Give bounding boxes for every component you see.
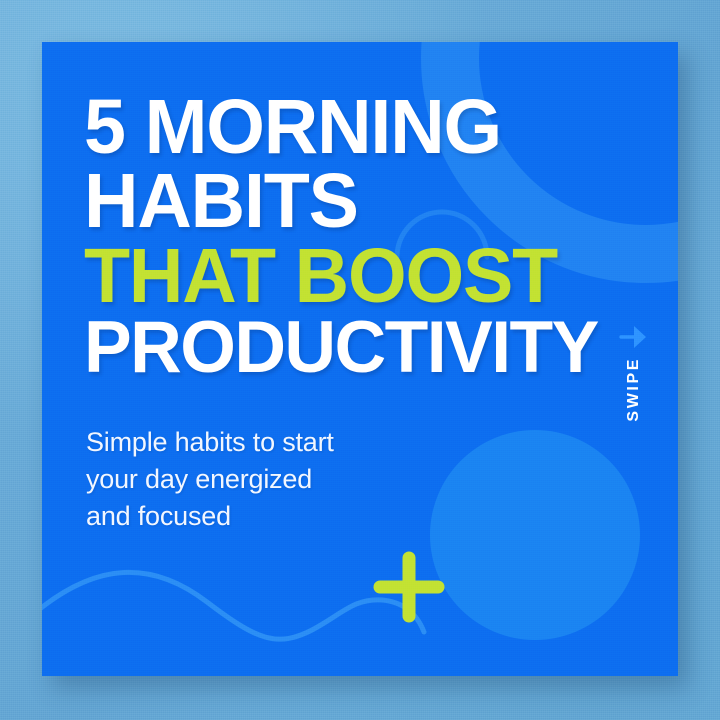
subtitle-line-3: and focused: [86, 498, 466, 535]
headline-line-3: THAT BOOST: [84, 239, 633, 313]
headline-line-2: HABITS: [84, 164, 633, 238]
headline: 5 MORNING HABITS THAT BOOST PRODUCTIVITY: [84, 90, 644, 383]
headline-line-4: PRODUCTIVITY: [84, 313, 633, 383]
slide-card: 5 MORNING HABITS THAT BOOST PRODUCTIVITY…: [42, 42, 678, 676]
slide-content: 5 MORNING HABITS THAT BOOST PRODUCTIVITY…: [42, 42, 678, 676]
swipe-badge[interactable]: SWIPE: [619, 324, 649, 422]
subtitle-line-2: your day energized: [86, 461, 466, 498]
arrow-right-icon[interactable]: [619, 324, 649, 350]
subtitle-line-1: Simple habits to start: [86, 424, 466, 461]
subtitle: Simple habits to start your day energize…: [86, 424, 466, 535]
headline-line-1: 5 MORNING: [84, 90, 633, 164]
swipe-label: SWIPE: [625, 357, 643, 422]
